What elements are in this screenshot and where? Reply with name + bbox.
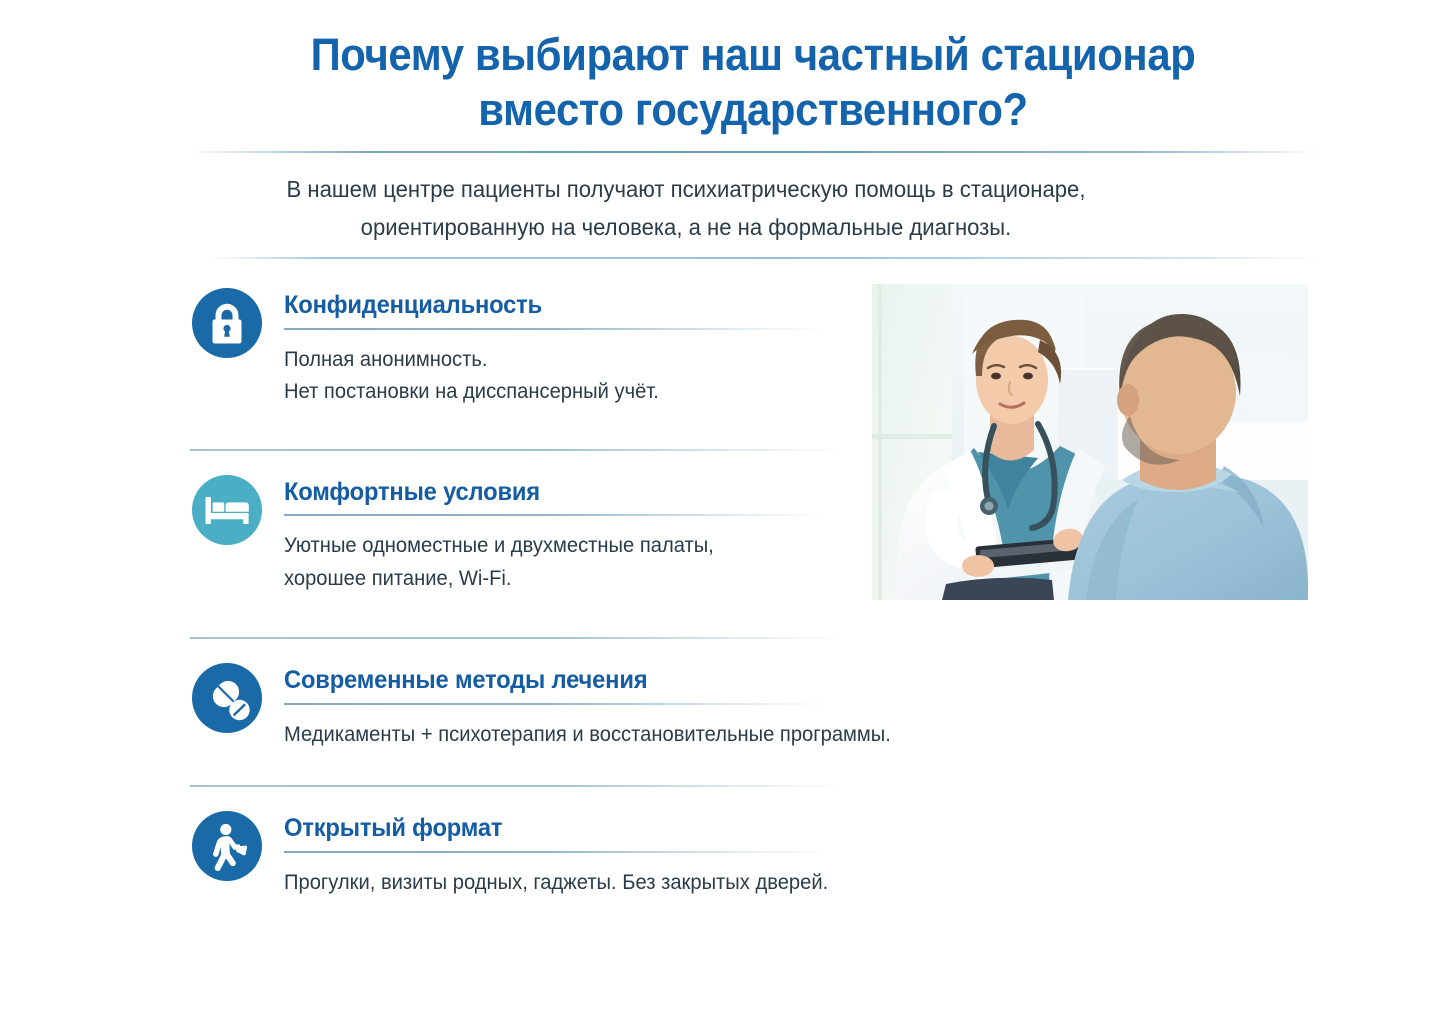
feature-text-line: Медикаменты + психотерапия и восстановит… (284, 719, 891, 752)
lock-icon (190, 286, 264, 360)
slide-root: Почему выбирают наш частный стационар вм… (0, 0, 1456, 1024)
subtitle-line-1: В нашем центре пациенты получают психиат… (216, 170, 1156, 208)
feature-heading: Открытый формат (284, 815, 823, 843)
title-divider (186, 151, 1322, 153)
feature-heading: Конфиденциальность (284, 292, 822, 320)
heading-underline (284, 514, 829, 516)
feature-list: Конфиденциальность Полная анонимность. Н… (190, 286, 850, 899)
page-title-line-2: вместо государственного? (226, 83, 1281, 138)
feature-text: Уютные одноместные и двухместные палаты,… (284, 530, 850, 595)
feature-item-open-format: Открытый формат Прогулки, визиты родных,… (190, 809, 850, 899)
feature-text-line: Нет постановки на дисспансерный учёт. (284, 376, 827, 409)
feature-heading: Современные методы лечения (284, 667, 885, 695)
heading-underline (284, 703, 829, 705)
heading-underline (284, 328, 829, 330)
subtitle: В нашем центре пациенты получают психиат… (186, 170, 1186, 246)
feature-text-line: Полная анонимность. (284, 344, 827, 377)
page-title: Почему выбирают наш частный стационар вм… (186, 28, 1320, 138)
feature-item-modern-treatment: Современные методы лечения Медикаменты +… (190, 661, 850, 751)
feature-text-line: Прогулки, визиты родных, гаджеты. Без за… (284, 867, 828, 900)
pills-icon (190, 661, 264, 735)
feature-text-line: Уютные одноместные и двухместные палаты, (284, 530, 827, 563)
feature-text: Медикаменты + психотерапия и восстановит… (284, 719, 916, 752)
feature-item-comfort: Комфортные условия Уютные одноместные и … (190, 473, 850, 596)
feature-text: Полная анонимность. Нет постановки на ди… (284, 344, 850, 409)
feature-item-confidentiality: Конфиденциальность Полная анонимность. Н… (190, 286, 850, 409)
page-title-line-1: Почему выбирают наш частный стационар (226, 28, 1281, 83)
subtitle-divider (210, 257, 1322, 259)
feature-text-line: хорошее питание, Wi-Fi. (284, 563, 827, 596)
feature-text: Прогулки, визиты родных, гаджеты. Без за… (284, 867, 851, 900)
feature-heading: Комфортные условия (284, 479, 822, 507)
bed-icon (190, 473, 264, 547)
heading-underline (284, 851, 829, 853)
subtitle-line-2: ориентированную на человека, а не на фор… (216, 208, 1156, 246)
walking-person-icon (190, 809, 264, 883)
doctor-patient-consultation-photo (872, 284, 1308, 600)
